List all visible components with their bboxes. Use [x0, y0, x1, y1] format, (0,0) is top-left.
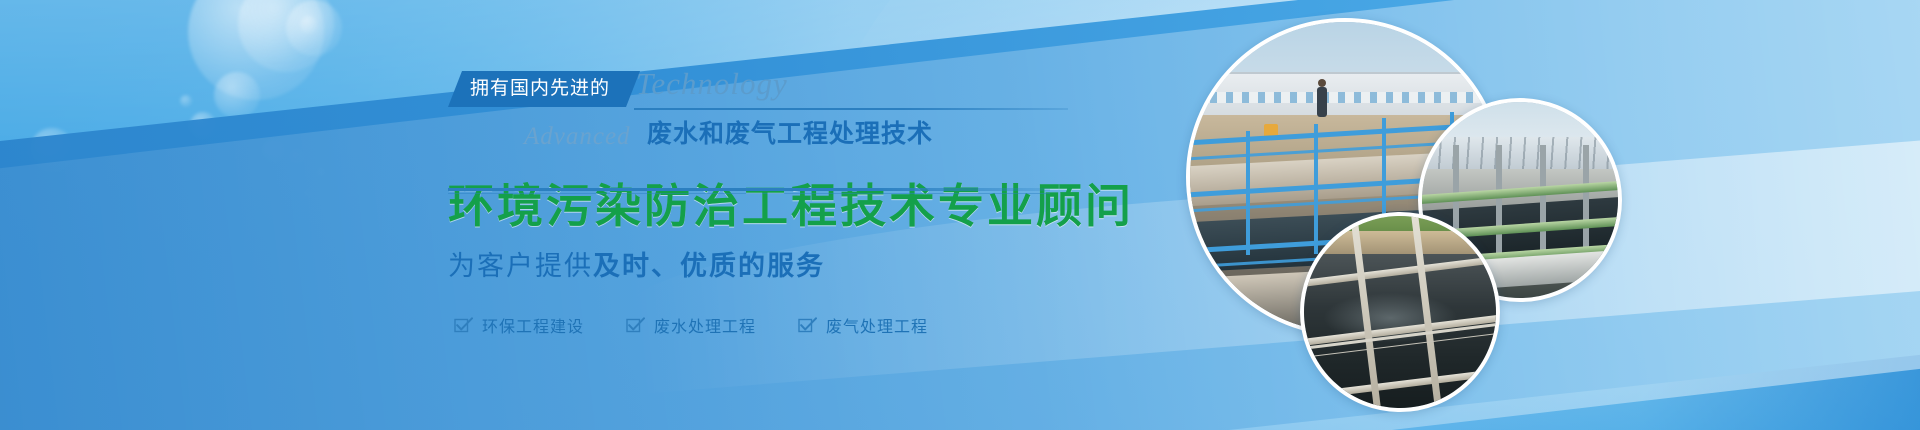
- check-icon: [798, 317, 817, 333]
- check-icon: [454, 317, 473, 333]
- photo-cluster: [1000, 0, 1920, 430]
- tagline-row: 拥有国内先进的 Technology: [448, 66, 1068, 112]
- feature-label: 废气处理工程: [826, 313, 928, 337]
- feature-item-wastewater-treatment[interactable]: 废水处理工程: [626, 313, 756, 337]
- divider-middle: [448, 188, 1050, 191]
- feature-label: 环保工程建设: [482, 313, 584, 337]
- page-subtitle: 为客户提供及时、优质的服务: [448, 244, 1068, 283]
- technology-word: Technology: [636, 66, 788, 102]
- feature-label: 废水处理工程: [654, 313, 756, 337]
- page-title: 环境污染防治工程技术专业顾问: [448, 170, 1068, 236]
- divider-middle-hairline: [448, 193, 1050, 194]
- feature-list: 环保工程建设 废水处理工程 废气处理工程: [448, 313, 1068, 337]
- advanced-word: Advanced: [524, 123, 631, 150]
- subtitle-cn: 废水和废气工程处理技术: [647, 120, 933, 148]
- banner-copy: 拥有国内先进的 Technology Advanced 废水和废气工程处理技术 …: [448, 66, 1068, 337]
- tagline-ribbon: 拥有国内先进的: [448, 71, 640, 107]
- subtitle-line: Advanced 废水和废气工程处理技术: [448, 114, 1068, 154]
- sedimentation-tank-photo: [1300, 212, 1500, 412]
- subtitle-emphasis: 及时、优质的服务: [593, 251, 825, 281]
- check-icon: [626, 317, 645, 333]
- feature-item-waste-gas-treatment[interactable]: 废气处理工程: [798, 313, 928, 337]
- subtitle-prefix: 为客户提供: [448, 251, 593, 281]
- hero-banner: 拥有国内先进的 Technology Advanced 废水和废气工程处理技术 …: [0, 0, 1920, 430]
- feature-item-environmental-construction[interactable]: 环保工程建设: [454, 313, 584, 337]
